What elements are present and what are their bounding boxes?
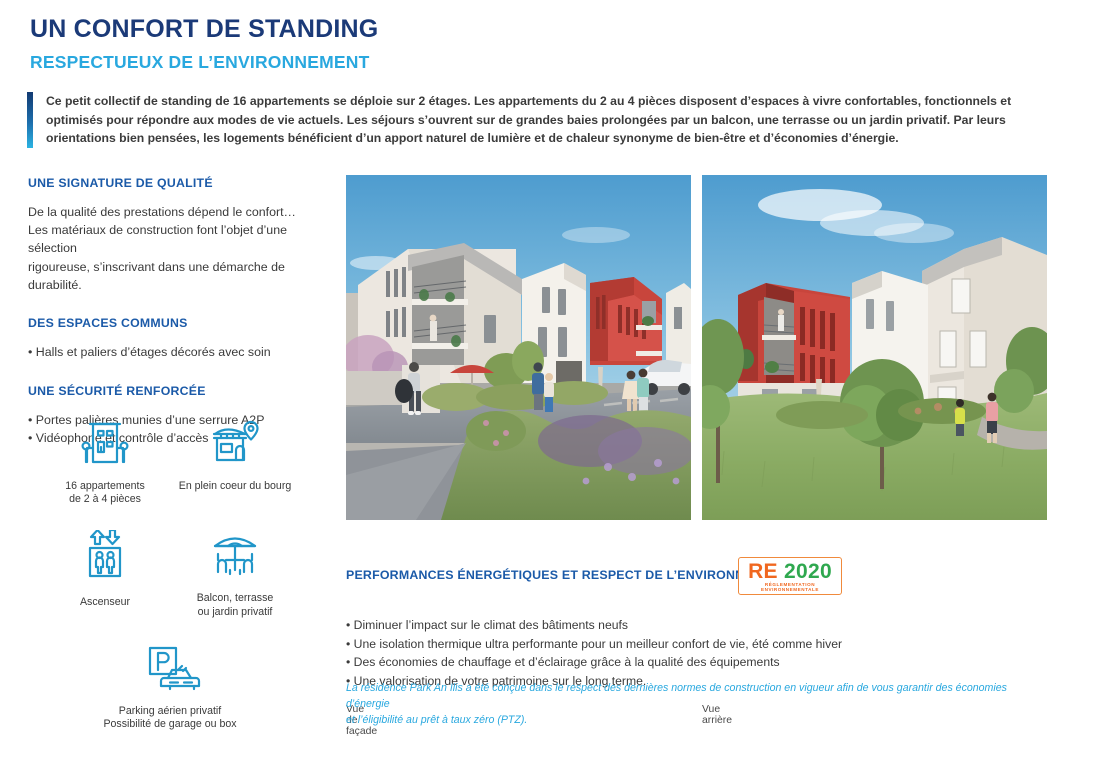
performance-title: PERFORMANCES ÉNERGÉTIQUES ET RESPECT DE … xyxy=(346,568,789,582)
re2020-logo: RE 2020 RÉGLEMENTATION ENVIRONNEMENTALE xyxy=(738,557,842,595)
section-body-line: Les matériaux de construction font l’obj… xyxy=(28,221,328,257)
legal-note-line: et l’éligibilité au prêt à taux zéro (PT… xyxy=(346,713,1046,729)
list-item-label: Une isolation thermique ultra performant… xyxy=(354,637,842,651)
feature-balcon: Balcon, terrasse ou jardin privatif xyxy=(170,530,300,618)
page-subtitle: RESPECTUEUX DE L’ENVIRONNEMENT xyxy=(30,53,378,72)
section-espaces-communs: DES ESPACES COMMUNS • Halls et paliers d… xyxy=(28,316,328,362)
front-view-render xyxy=(346,175,691,520)
section-title: UNE SIGNATURE DE QUALITÉ xyxy=(28,176,328,190)
section-body-line: De la qualité des prestations dépend le … xyxy=(28,203,328,221)
feature-caption-line: ou jardin privatif xyxy=(197,606,274,619)
legal-note-line: La résidence Park An Ilis a été conçue d… xyxy=(346,681,1046,713)
section-title: UNE SÉCURITÉ RENFORCÉE xyxy=(28,384,328,398)
bullet-dot: • xyxy=(28,345,32,359)
section-signature-qualite: UNE SIGNATURE DE QUALITÉ De la qualité d… xyxy=(28,176,328,294)
apartment-building-icon xyxy=(77,418,133,473)
feature-ascenseur: Ascenseur xyxy=(40,530,170,618)
feature-apartments: 16 appartements de 2 à 4 pièces xyxy=(40,418,170,506)
intro-block: Ce petit collectif de standing de 16 app… xyxy=(27,92,1047,148)
feature-caption: 16 appartements de 2 à 4 pièces xyxy=(65,480,145,506)
feature-parking: Parking aérien privatif Possibilité de g… xyxy=(40,645,300,731)
list-item: • Halls et paliers d’étages décorés avec… xyxy=(28,343,328,362)
re2020-logo-year: 2020 xyxy=(784,560,832,583)
front-view-illustration xyxy=(346,175,691,520)
page-header: UN CONFORT DE STANDING RESPECTUEUX DE L’… xyxy=(30,16,378,72)
list-item: • Des économies de chauffage et d’éclair… xyxy=(346,653,1046,672)
parasol-terrace-icon xyxy=(205,530,265,585)
feature-caption-line: 16 appartements xyxy=(65,480,145,493)
feature-caption: Parking aérien privatif Possibilité de g… xyxy=(103,705,236,731)
list-item-label: Halls et paliers d’étages décorés avec s… xyxy=(36,345,271,359)
section-body: De la qualité des prestations dépend le … xyxy=(28,203,328,294)
feature-caption-line: Ascenseur xyxy=(80,596,130,609)
feature-caption-line: En plein coeur du bourg xyxy=(179,480,292,493)
shop-location-icon xyxy=(205,418,265,473)
feature-caption: En plein coeur du bourg xyxy=(179,480,292,493)
elevator-icon xyxy=(77,530,133,589)
feature-row-2: Ascenseur xyxy=(40,530,300,618)
page-title: UN CONFORT DE STANDING xyxy=(30,16,378,44)
feature-caption-line: Parking aérien privatif xyxy=(103,705,236,718)
performance-block: PERFORMANCES ÉNERGÉTIQUES ET RESPECT DE … xyxy=(346,566,1046,691)
feature-bourg: En plein coeur du bourg xyxy=(170,418,300,506)
feature-caption-line: Possibilité de garage ou box xyxy=(103,718,236,731)
list-item-label: Des économies de chauffage et d’éclairag… xyxy=(354,655,780,669)
feature-caption: Balcon, terrasse ou jardin privatif xyxy=(197,592,274,618)
feature-row-1: 16 appartements de 2 à 4 pièces xyxy=(40,418,300,506)
performance-bullet-list: • Diminuer l’impact sur le climat des bâ… xyxy=(346,616,1046,691)
list-item: • Une isolation thermique ultra performa… xyxy=(346,635,1046,654)
list-item-label: Diminuer l’impact sur le climat des bâti… xyxy=(354,618,628,632)
re2020-logo-re: RE xyxy=(748,560,778,583)
section-title: DES ESPACES COMMUNS xyxy=(28,316,328,330)
bullet-dot: • xyxy=(28,431,32,445)
section-bullet-list: • Halls et paliers d’étages décorés avec… xyxy=(28,343,328,362)
rear-view-render xyxy=(702,175,1047,520)
brochure-page: UN CONFORT DE STANDING RESPECTUEUX DE L’… xyxy=(0,0,1108,771)
rear-view-illustration xyxy=(702,175,1047,520)
section-body-line: rigoureuse, s’inscrivant dans une démarc… xyxy=(28,258,328,294)
feature-row-3: Parking aérien privatif Possibilité de g… xyxy=(40,645,300,731)
list-item: • Diminuer l’impact sur le climat des bâ… xyxy=(346,616,1046,635)
feature-caption-line: Balcon, terrasse xyxy=(197,592,274,605)
feature-caption: Ascenseur xyxy=(80,596,130,609)
feature-icon-grid: 16 appartements de 2 à 4 pièces xyxy=(40,418,300,731)
feature-caption-line: de 2 à 4 pièces xyxy=(65,493,145,506)
intro-text: Ce petit collectif de standing de 16 app… xyxy=(33,92,1047,148)
parking-car-icon xyxy=(134,645,206,698)
intro-line-3: les logements bénéficient d’un apport na… xyxy=(203,131,899,145)
bullet-dot: • xyxy=(28,413,32,427)
legal-note: La résidence Park An Ilis a été conçue d… xyxy=(346,681,1046,729)
